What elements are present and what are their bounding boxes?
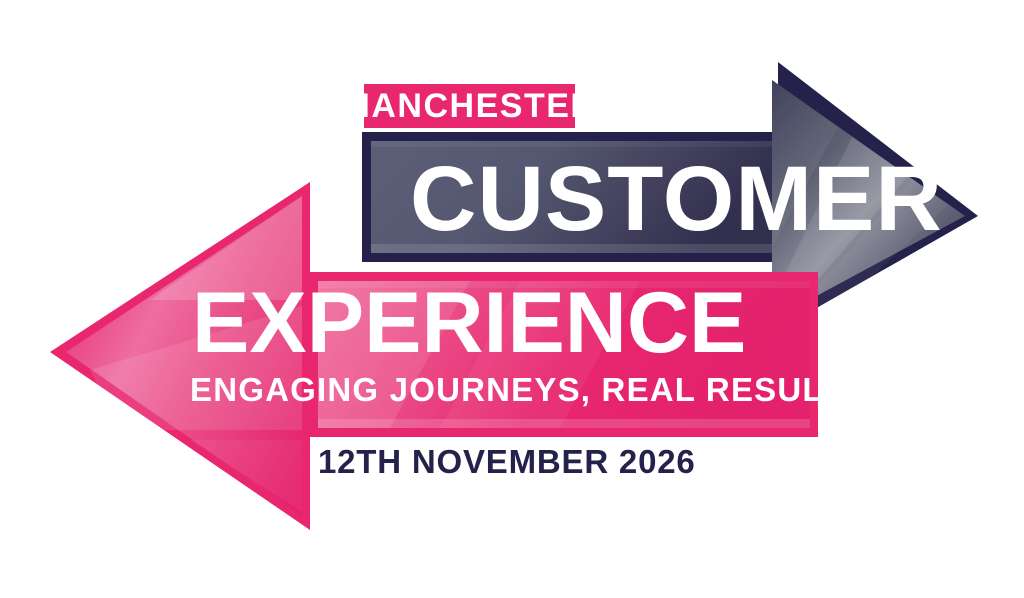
event-date: 12TH NOVEMBER 2026 (318, 443, 696, 480)
manchester-badge: MANCHESTER (342, 84, 597, 128)
customer-arrow-bar-topline (371, 141, 772, 147)
event-logo: MANCHESTER CUSTOMER EXPERIENCE ENGAGING … (0, 0, 1024, 598)
experience-word: EXPERIENCE (192, 275, 746, 371)
experience-tagline: ENGAGING JOURNEYS, REAL RESULTS (190, 371, 866, 408)
manchester-badge-label: MANCHESTER (342, 87, 597, 125)
logo-canvas: MANCHESTER CUSTOMER EXPERIENCE ENGAGING … (0, 0, 1024, 598)
experience-arrow-body-sheen (318, 419, 810, 428)
customer-word: CUSTOMER (410, 148, 943, 250)
